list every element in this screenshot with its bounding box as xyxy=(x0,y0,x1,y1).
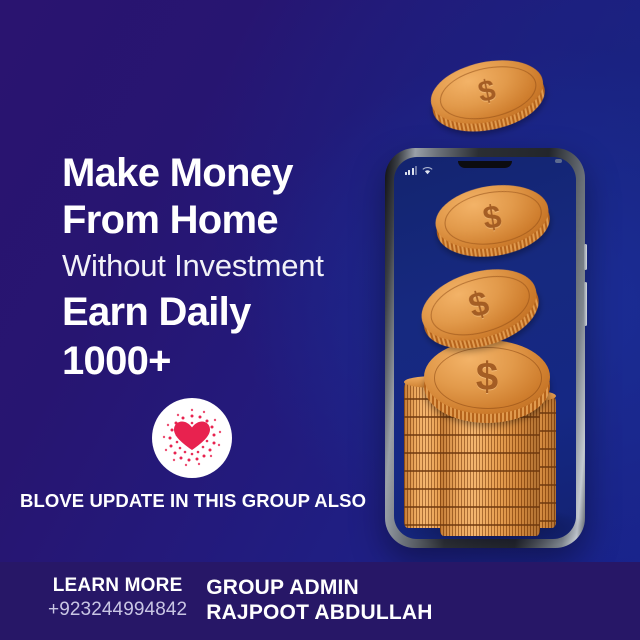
contact-phone-number[interactable]: +923244994842 xyxy=(48,597,187,622)
phone-side-button-volume xyxy=(584,244,587,270)
phone-side-button-power xyxy=(584,282,587,326)
coin-falling-1: $ xyxy=(425,51,549,133)
headline-line-2: From Home xyxy=(62,197,392,244)
promo-strip-text: BLOVE UPDATE IN THIS GROUP ALSO xyxy=(20,490,366,512)
phone-screen xyxy=(394,157,576,539)
phone-status-bar xyxy=(405,166,433,175)
phone-camera-icon xyxy=(555,159,562,163)
wifi-icon xyxy=(422,166,433,175)
phone-mockup xyxy=(385,148,585,548)
footer: LEARN MORE +923244994842 GROUP ADMIN RAJ… xyxy=(0,562,640,640)
headline-line-3: Earn Daily xyxy=(62,288,392,337)
headline-block: Make Money From Home Without Investment … xyxy=(62,150,392,386)
group-admin-label: GROUP ADMIN xyxy=(206,575,432,600)
group-admin-block: GROUP ADMIN RAJPOOT ABDULLAH xyxy=(206,574,432,625)
learn-more-block: LEARN MORE +923244994842 xyxy=(48,574,187,622)
signal-bars-icon xyxy=(405,166,417,175)
phone-notch xyxy=(458,161,512,168)
learn-more-label: LEARN MORE xyxy=(48,574,187,597)
heart-burst-icon xyxy=(152,398,232,478)
headline-line-1: Make Money xyxy=(62,150,392,197)
promo-poster: $ $ $ $ Make Money From Home Wi xyxy=(0,0,640,640)
group-admin-name: RAJPOOT ABDULLAH xyxy=(206,600,432,625)
headline-subline: Without Investment xyxy=(62,244,392,288)
headline-line-4: 1000+ xyxy=(62,337,392,386)
